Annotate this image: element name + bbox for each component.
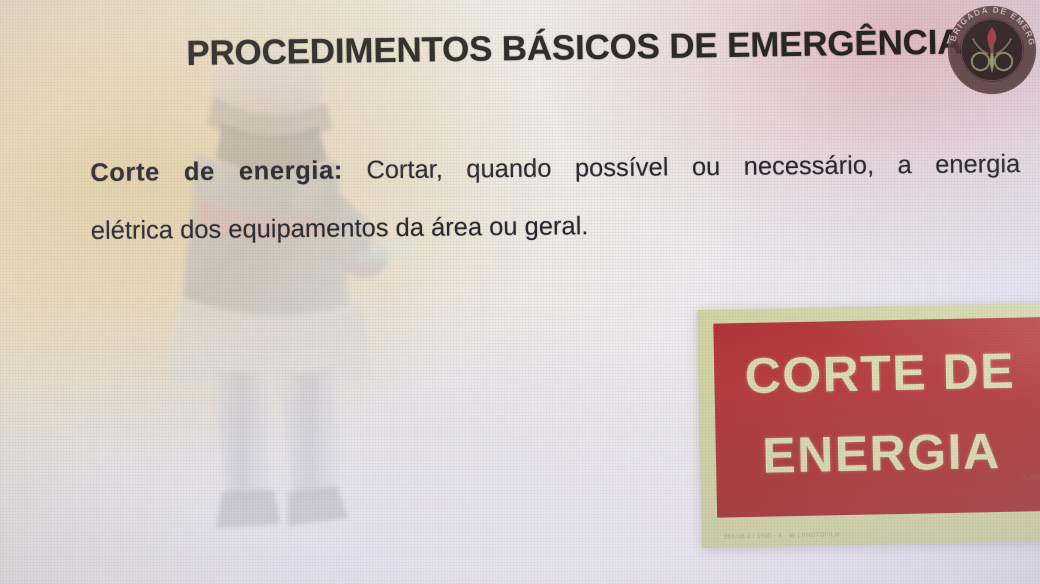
slide-body-text: Corte de energia: Cortar, quando possíve…: [90, 135, 1021, 260]
sign-face: CORTE DE ENERGIA PL300: [713, 317, 1040, 518]
sign-line-1: CORTE DE: [714, 341, 1040, 406]
sign-fineprint: 26X/16.2 / 1500 - K - W | PHOTOFILM: [724, 532, 841, 540]
body-line-2: elétrica dos equipamentos da área ou ger…: [91, 193, 1022, 260]
body-line-1-rest: Cortar, quando possível ou necessário, a…: [366, 150, 1020, 184]
body-line-1: Corte de energia: Cortar, quando possíve…: [90, 135, 1021, 202]
sign-line-2: ENERGIA: [715, 421, 1040, 486]
photo-of-projected-slide: PROCEDIMENTOS BÁSICOS DE EMERGÊNCIA Cort…: [0, 0, 1040, 584]
body-lead-label: Corte de energia:: [90, 157, 343, 187]
corte-de-energia-sign: CORTE DE ENERGIA PL300 26X/16.2 / 1500 -…: [697, 303, 1040, 548]
sign-corner-mark: PL300: [1022, 475, 1040, 481]
